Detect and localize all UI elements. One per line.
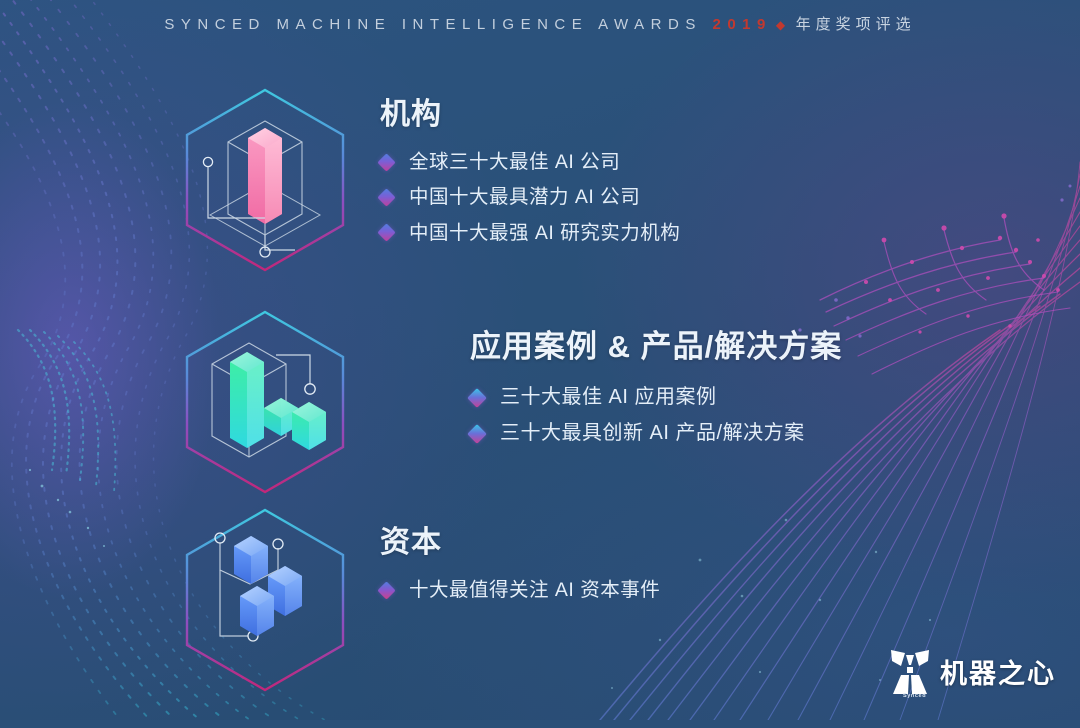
logo-en-label: Synced [903,693,926,699]
header-brand-line: SYNCED MACHINE INTELLIGENCE AWARDS [164,16,701,33]
award-label: 中国十大最强 AI 研究实力机构 [409,220,680,246]
award-label: 中国十大最具潜力 AI 公司 [409,184,640,210]
header-year: 2019 [713,16,772,33]
section-title: 资本 [380,526,660,559]
section-title: 应用案例 & 产品/解决方案 [470,330,842,364]
award-label: 三十大最具创新 AI 产品/解决方案 [500,420,805,447]
list-item[interactable]: 中国十大最强 AI 研究实力机构 [380,220,680,246]
award-section-institutions: 机构 全球三十大最佳 AI 公司 中国十大最具潜力 AI 公司 中国十大最强 A… [150,78,680,308]
award-list: 十大最值得关注 AI 资本事件 [380,577,660,603]
diamond-bullet-icon [467,424,487,444]
award-label: 全球三十大最佳 AI 公司 [409,149,620,175]
diamond-bullet-icon [377,188,395,206]
hexagon-green-blocks-icon [150,300,380,530]
section-content: 机构 全球三十大最佳 AI 公司 中国十大最具潜力 AI 公司 中国十大最强 A… [380,78,680,255]
diamond-bullet-icon [377,581,395,599]
section-title: 机构 [380,98,680,131]
list-item[interactable]: 三十大最具创新 AI 产品/解决方案 [470,420,842,447]
diamond-bullet-icon [377,153,395,171]
award-list: 全球三十大最佳 AI 公司 中国十大最具潜力 AI 公司 中国十大最强 AI 研… [380,149,680,246]
diamond-bullet-icon [377,224,395,242]
synced-logo[interactable]: Synced 机器之心 [889,644,1056,698]
page-header: SYNCED MACHINE INTELLIGENCE AWARDS 2019◆… [0,0,1080,46]
section-content: 应用案例 & 产品/解决方案 三十大最佳 AI 应用案例 三十大最具创新 AI … [380,300,842,456]
award-label: 三十大最佳 AI 应用案例 [500,384,717,411]
header-title: SYNCED MACHINE INTELLIGENCE AWARDS 2019◆… [164,13,915,34]
award-section-applications: 应用案例 & 产品/解决方案 三十大最佳 AI 应用案例 三十大最具创新 AI … [150,300,842,530]
header-separator-icon: ◆ [772,18,796,32]
synced-hourglass-mark: Synced [889,644,931,698]
header-subtitle: 年度奖项评选 [796,16,916,33]
hexagon-blue-cubes-icon [150,498,380,728]
hexagon-pink-tower-icon [150,78,380,308]
award-section-capital: 资本 十大最值得关注 AI 资本事件 [150,498,660,728]
award-label: 十大最值得关注 AI 资本事件 [409,577,660,603]
diamond-bullet-icon [467,388,487,408]
list-item[interactable]: 三十大最佳 AI 应用案例 [470,384,842,411]
logo-cn-label: 机器之心 [940,652,1056,691]
award-list: 三十大最佳 AI 应用案例 三十大最具创新 AI 产品/解决方案 [470,384,842,447]
list-item[interactable]: 十大最值得关注 AI 资本事件 [380,577,660,603]
list-item[interactable]: 全球三十大最佳 AI 公司 [380,149,680,175]
list-item[interactable]: 中国十大最具潜力 AI 公司 [380,184,680,210]
section-content: 资本 十大最值得关注 AI 资本事件 [380,498,660,612]
